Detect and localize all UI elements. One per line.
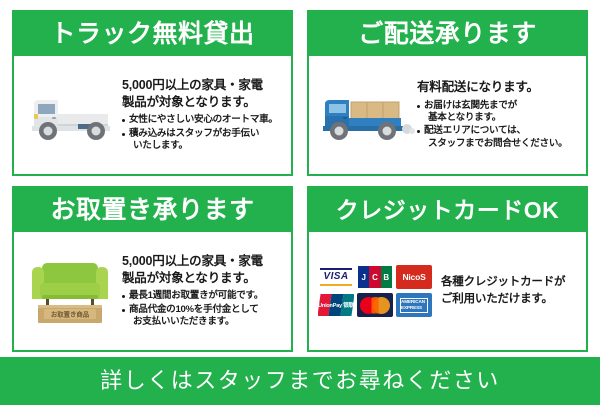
footer-banner: 詳しくはスタッフまでお尋ねください — [0, 357, 600, 405]
panel-layaway-bullets: 最長1週間お取置きが可能です。 商品代金の10%を手付金として お支払いいただき… — [122, 290, 283, 328]
bullet-item: 女性にやさしい安心のオートマ車。 — [122, 114, 283, 126]
unionpay-card-logo: UnionPay 银联 — [318, 293, 354, 317]
poster-root: トラック無料貸出 — [0, 0, 600, 405]
jcb-card-logo: J C B — [357, 265, 393, 289]
footer-text: 詳しくはスタッフまでお尋ねください — [100, 370, 500, 392]
credit-card-note-line2: ご利用いただけます。 — [441, 291, 580, 308]
amex-card-logo: AMERICAN EXPRESS — [396, 293, 432, 317]
blue-delivery-truck-icon — [313, 84, 417, 146]
accepted-cards-list: VISA J C B NicoS — [315, 265, 435, 317]
visa-bottom-bar — [320, 284, 352, 287]
panel-layaway: お取置き承ります — [12, 186, 293, 352]
visa-card-logo: VISA — [318, 265, 354, 289]
panel-truck-rental-header: トラック無料貸出 — [14, 12, 291, 56]
panel-layaway-title: お取置き承ります — [50, 198, 254, 223]
panel-delivery-header: ご配送承ります — [309, 12, 586, 56]
panel-delivery-title: ご配送承ります — [358, 22, 537, 47]
panel-truck-rental-copy: 5,000円以上の家具・家電 製品が対象となります。 女性にやさしい安心のオート… — [122, 77, 285, 154]
visa-wordmark: VISA — [324, 271, 349, 283]
panel-delivery: ご配送承ります — [307, 10, 588, 176]
credit-card-note-line1: 各種クレジットカードが — [441, 274, 580, 291]
bullet-item: 商品代金の10%を手付金として お支払いいただきます。 — [122, 304, 283, 329]
panel-truck-rental-title: トラック無料貸出 — [50, 22, 254, 47]
panel-credit-card-body: VISA J C B NicoS — [309, 232, 586, 350]
panel-delivery-body: 有料配送になります。 お届けは玄関先までが 基本となります。 配送エリアについて… — [309, 56, 586, 174]
bullet-item: お届けは玄関先までが 基本となります。 — [417, 100, 578, 125]
nicos-card-logo: NicoS — [396, 265, 432, 289]
panel-truck-rental-bullets: 女性にやさしい安心のオートマ車。 積み込みはスタッフがお手伝い いたします。 — [122, 114, 283, 152]
jcb-letter-j: J — [358, 266, 369, 288]
panel-grid: トラック無料貸出 — [0, 0, 600, 352]
panel-truck-rental-lead: 5,000円以上の家具・家電 製品が対象となります。 — [122, 77, 283, 111]
panel-credit-card-title: クレジットカードOK — [336, 199, 560, 222]
unionpay-wordmark: UnionPay 银联 — [318, 301, 354, 309]
bullet-item: 最長1週間お取置きが可能です。 — [122, 290, 283, 302]
bullet-item: 積み込みはスタッフがお手伝い いたします。 — [122, 128, 283, 153]
panel-truck-rental-body: 5,000円以上の家具・家電 製品が対象となります。 女性にやさしい安心のオート… — [14, 56, 291, 174]
panel-layaway-copy: 5,000円以上の家具・家電 製品が対象となります。 最長1週間お取置きが可能で… — [122, 253, 285, 330]
panel-delivery-bullets: お届けは玄関先までが 基本となります。 配送エリアについては、 スタッフまでお問… — [417, 100, 578, 150]
amex-wordmark: AMERICAN EXPRESS — [401, 299, 427, 310]
panel-credit-card: クレジットカードOK VISA J C B — [307, 186, 588, 352]
jcb-letter-b: B — [381, 266, 392, 288]
visa-top-bar — [320, 268, 352, 270]
layaway-tag-label: お取置き商品 — [51, 310, 90, 319]
bullet-item: 配送エリアについては、 スタッフまでお問合せください。 — [417, 125, 578, 150]
nicos-wordmark: NicoS — [402, 272, 425, 282]
jcb-stripes: J C B — [358, 266, 392, 288]
panel-truck-rental: トラック無料貸出 — [12, 10, 293, 176]
credit-card-note: 各種クレジットカードが ご利用いただけます。 — [435, 274, 580, 307]
panel-delivery-lead: 有料配送になります。 — [417, 79, 578, 96]
white-kei-truck-icon — [18, 84, 122, 146]
panel-credit-card-header: クレジットカードOK — [309, 188, 586, 232]
mastercard-card-logo — [357, 293, 393, 317]
panel-layaway-lead: 5,000円以上の家具・家電 製品が対象となります。 — [122, 253, 283, 287]
jcb-letter-c: C — [369, 266, 380, 288]
panel-delivery-copy: 有料配送になります。 お届けは玄関先までが 基本となります。 配送エリアについて… — [417, 79, 580, 151]
panel-layaway-header: お取置き承ります — [14, 188, 291, 232]
amex-box: AMERICAN EXPRESS — [400, 298, 428, 313]
panel-layaway-body: お取置き商品 5,000円以上の家具・家電 製品が対象となります。 最長1週間お… — [14, 232, 291, 350]
mastercard-circles — [360, 297, 390, 314]
green-sofa-icon: お取置き商品 — [18, 255, 122, 327]
